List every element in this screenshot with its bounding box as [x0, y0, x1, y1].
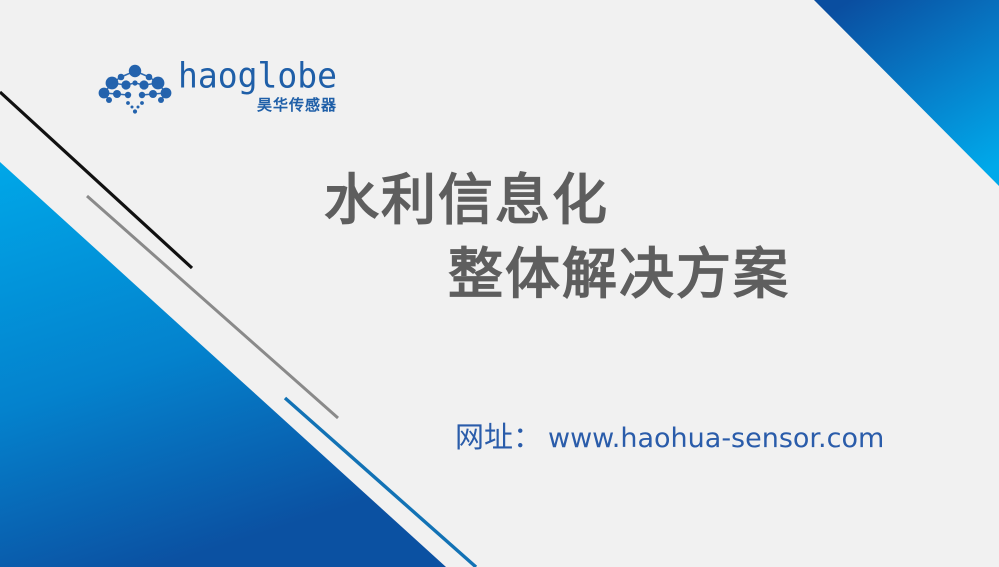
- url-label: 网址：: [455, 420, 542, 454]
- haoglobe-network-dots-icon: [98, 64, 172, 116]
- slide-canvas: haoglobe 昊华传感器 水利信息化 整体解决方案 网址： www.haoh…: [0, 0, 999, 567]
- logo-text-group: haoglobe 昊华传感器: [178, 58, 337, 113]
- logo-wordmark: haoglobe: [178, 58, 337, 94]
- title-line-2: 整体解决方案: [300, 237, 900, 311]
- logo-chinese-subtext: 昊华传感器: [257, 97, 337, 113]
- website-url: 网址： www.haohua-sensor.com: [455, 420, 884, 456]
- title-line-1: 水利信息化: [300, 163, 900, 237]
- company-logo: haoglobe 昊华传感器: [98, 58, 328, 126]
- page-title: 水利信息化 整体解决方案: [300, 163, 900, 311]
- url-value[interactable]: www.haohua-sensor.com: [548, 422, 884, 456]
